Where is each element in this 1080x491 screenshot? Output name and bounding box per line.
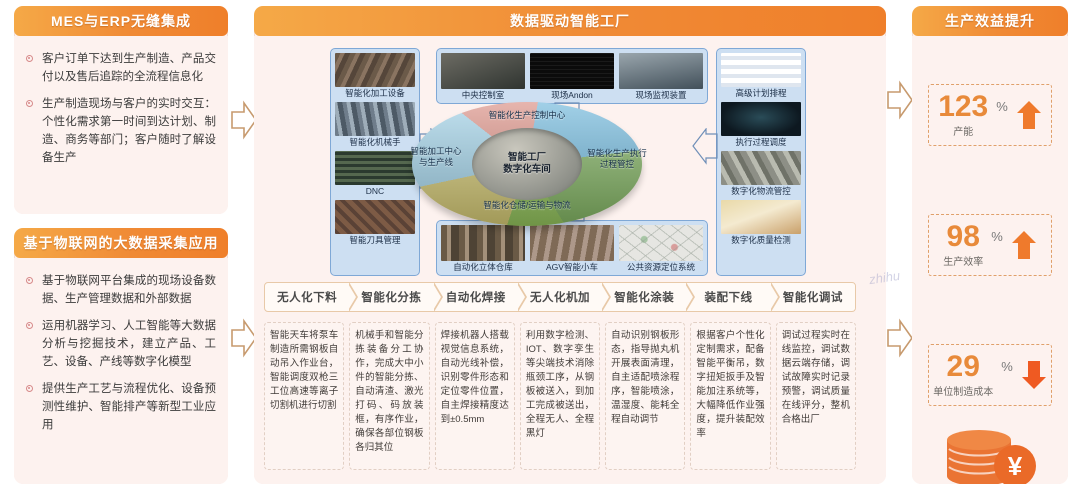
panel-iot-bigdata: 基于物联网的大数据采集应用 基于物联网平台集成的现场设备数据、生产管理数据和外部… <box>14 228 228 484</box>
yen-symbol: ¥ <box>1008 451 1023 481</box>
flow-step[interactable]: 自动化焊接 <box>434 283 518 311</box>
photo-card: 智能化机械手 <box>335 102 415 149</box>
description-card: 机械手和智能分拣装备分工协作，完成大中小件的智能分拣、自动清渣、激光打码、码放装… <box>349 322 429 470</box>
photo-card: 现场监视装置 <box>619 53 703 99</box>
photo-image <box>335 53 415 87</box>
bullet-text: 生产制造现场与客户的实时交互：个性化需求第一时间到达计划、制造、商务等部门；客户… <box>42 98 216 164</box>
photo-caption: 现场Andon <box>530 89 614 102</box>
photo-caption: AGV智能小车 <box>530 261 614 274</box>
wheel-center-line2: 数字化车间 <box>503 164 551 176</box>
panel-smart-factory: 数据驱动智能工厂 智能化加工设备 智能化机械手 DNC <box>254 6 886 484</box>
list-item: 基于物联网平台集成的现场设备数据、生产管理数据和外部数据 <box>26 272 216 308</box>
wheel-label-machining: 智能加工中心与生产线 <box>408 146 464 167</box>
panel-efficiency-gain-title: 生产效益提升 <box>912 6 1068 36</box>
photo-card: 中央控制室 <box>441 53 525 99</box>
description-card: 利用数字检测、IOT、数字孪生等尖端技术消除瓶颈工序，从钢板被送入，到加工完成被… <box>520 322 600 470</box>
photo-image <box>721 53 801 87</box>
photo-card: DNC <box>335 151 415 198</box>
list-item: 客户订单下达到生产制造、产品交付以及售后追踪的全流程信息化 <box>26 50 216 86</box>
connector-arrow-right-icon <box>688 128 718 190</box>
photo-card: 智能刀具管理 <box>335 200 415 247</box>
photo-card: 自动化立体仓库 <box>441 225 525 271</box>
photo-image <box>721 102 801 136</box>
bullet-text: 提供生产工艺与流程优化、设备预测性维护、智能排产等新型工业应用 <box>42 383 216 431</box>
photo-image <box>441 53 525 89</box>
photo-column-equipment: 智能化加工设备 智能化机械手 DNC 智能刀具管理 <box>330 48 420 276</box>
description-card: 焊接机器人搭载视觉信息系统，自动光线补偿，识别零件形态和定位零件位置，自主焊接精… <box>435 322 515 470</box>
kpi-capacity-unit: % <box>996 99 1008 114</box>
panel-smart-factory-title: 数据驱动智能工厂 <box>254 6 886 36</box>
arrow-up-icon <box>1016 100 1042 130</box>
arrow-center-to-right-top-icon <box>886 80 914 120</box>
panel-iot-bigdata-body: 基于物联网平台集成的现场设备数据、生产管理数据和外部数据 运用机器学习、人工智能… <box>14 258 228 484</box>
photo-caption: 自动化立体仓库 <box>441 261 525 274</box>
panel-mes-erp: MES与ERP无缝集成 客户订单下达到生产制造、产品交付以及售后追踪的全流程信息… <box>14 6 228 214</box>
photo-image <box>619 53 703 89</box>
list-item: 生产制造现场与客户的实时交互：个性化需求第一时间到达计划、制造、商务等部门；客户… <box>26 95 216 167</box>
photo-image <box>335 200 415 234</box>
photo-image <box>530 225 614 261</box>
photo-card: 现场Andon <box>530 53 614 99</box>
description-card: 自动识别钢板形态，指导抛丸机开展表面清理，自主适配喷涂程序，智能喷涂，温湿度、能… <box>605 322 685 470</box>
kpi-efficiency-value: 98 <box>947 222 980 252</box>
list-item: 提供生产工艺与流程优化、设备预测性维护、智能排产等新型工业应用 <box>26 380 216 434</box>
kpi-unit-cost-label: 单位制造成本 <box>933 383 993 398</box>
panel-efficiency-gain: 生产效益提升 123 产能 % 98 生产效率 % <box>912 6 1068 484</box>
flow-step[interactable]: 智能化分拣 <box>349 283 433 311</box>
kpi-efficiency-label: 生产效率 <box>943 253 983 268</box>
arrow-up-icon <box>1011 230 1037 260</box>
coin-stack-icon: ¥ <box>937 418 1043 484</box>
panel-mes-erp-title: MES与ERP无缝集成 <box>14 6 228 36</box>
photo-image <box>335 151 415 185</box>
photo-image <box>335 102 415 136</box>
photo-card: AGV智能小车 <box>530 225 614 271</box>
kpi-unit-cost-unit: % <box>1001 359 1013 374</box>
flow-step[interactable]: 智能化涂装 <box>602 283 686 311</box>
process-description-row: 智能天车将泵车制造所需钢板自动吊入作业台，智能调度双枪三工位高速等离子切割机进行… <box>264 322 856 470</box>
photo-image <box>530 53 614 89</box>
flow-step[interactable]: 智能化调试 <box>771 283 855 311</box>
flow-step[interactable]: 无人化下料 <box>265 283 349 311</box>
kpi-efficiency-value-group: 98 生产效率 <box>943 222 983 268</box>
kpi-unit-cost-value: 29 <box>947 352 980 382</box>
photo-caption: 中央控制室 <box>441 89 525 102</box>
wheel-label-control-center: 智能化生产控制中心 <box>489 110 566 121</box>
photo-column-planning: 高级计划排程 执行过程调度 数字化物流管控 数字化质量检测 <box>716 48 806 276</box>
infographic-root: MES与ERP无缝集成 客户订单下达到生产制造、产品交付以及售后追踪的全流程信息… <box>0 0 1080 491</box>
photo-caption: DNC <box>335 185 415 198</box>
photo-caption: 智能化机械手 <box>335 136 415 149</box>
description-card: 智能天车将泵车制造所需钢板自动吊入作业台，智能调度双枪三工位高速等离子切割机进行… <box>264 322 344 470</box>
iot-bullet-list: 基于物联网平台集成的现场设备数据、生产管理数据和外部数据 运用机器学习、人工智能… <box>26 272 216 434</box>
process-flow-bar: 无人化下料 智能化分拣 自动化焊接 无人化机加 智能化涂装 装配下线 智能化调试 <box>264 282 856 312</box>
photo-caption: 数字化物流管控 <box>721 185 801 198</box>
arrow-down-icon <box>1021 360 1047 390</box>
bullet-text: 运用机器学习、人工智能等大数据分析与挖掘技术，建立产品、工艺、设备、产线等数字化… <box>42 320 216 368</box>
kpi-capacity-label: 产能 <box>953 123 973 138</box>
bullet-text: 基于物联网平台集成的现场设备数据、生产管理数据和外部数据 <box>42 275 216 305</box>
photo-card: 数字化物流管控 <box>721 151 801 198</box>
photo-card: 高级计划排程 <box>721 53 801 100</box>
smart-factory-wheel: 智能化生产控制中心 智能化生产执行过程管控 智能化仓储/运输与物流 智能加工中心… <box>412 102 642 226</box>
photo-card: 智能化加工设备 <box>335 53 415 100</box>
arrow-center-to-right-bottom-icon <box>886 318 914 358</box>
wheel-center-label: 智能工厂 数字化车间 <box>503 152 551 176</box>
panel-efficiency-gain-body: 123 产能 % 98 生产效率 % 2 <box>912 36 1068 484</box>
photo-caption: 现场监视装置 <box>619 89 703 102</box>
photo-image <box>721 200 801 234</box>
photo-caption: 数字化质量检测 <box>721 234 801 247</box>
bullet-text: 客户订单下达到生产制造、产品交付以及售后追踪的全流程信息化 <box>42 53 216 83</box>
photo-caption: 公共资源定位系统 <box>619 261 703 274</box>
photo-card: 公共资源定位系统 <box>619 225 703 271</box>
photo-caption: 智能刀具管理 <box>335 234 415 247</box>
factory-diagram: 智能化加工设备 智能化机械手 DNC 智能刀具管理 <box>264 44 876 282</box>
photo-row-control: 中央控制室 现场Andon 现场监视装置 <box>436 48 708 104</box>
photo-image <box>721 151 801 185</box>
bullet-dot-icon <box>26 385 33 392</box>
flow-step[interactable]: 装配下线 <box>686 283 770 311</box>
photo-caption: 高级计划排程 <box>721 87 801 100</box>
photo-caption: 执行过程调度 <box>721 136 801 149</box>
panel-smart-factory-body: 智能化加工设备 智能化机械手 DNC 智能刀具管理 <box>254 36 886 484</box>
bullet-dot-icon <box>26 100 33 107</box>
description-card: 调试过程实时在线监控，调试数据云端存储，调试故障实时记录预警，调试质量在线评分，… <box>776 322 856 470</box>
wheel-center-line1: 智能工厂 <box>503 152 551 164</box>
bullet-dot-icon <box>26 277 33 284</box>
photo-row-logistics: 自动化立体仓库 AGV智能小车 公共资源定位系统 <box>436 220 708 276</box>
bullet-dot-icon <box>26 322 33 329</box>
flow-step[interactable]: 无人化机加 <box>518 283 602 311</box>
list-item: 运用机器学习、人工智能等大数据分析与挖掘技术，建立产品、工艺、设备、产线等数字化… <box>26 317 216 371</box>
panel-iot-bigdata-title: 基于物联网的大数据采集应用 <box>14 228 228 258</box>
wheel-label-execution: 智能化生产执行过程管控 <box>586 148 648 169</box>
kpi-capacity-value: 123 <box>938 92 988 122</box>
photo-image <box>441 225 525 261</box>
mes-erp-bullet-list: 客户订单下达到生产制造、产品交付以及售后追踪的全流程信息化 生产制造现场与客户的… <box>26 50 216 167</box>
wheel-label-warehouse: 智能化仓储/运输与物流 <box>483 200 570 211</box>
bullet-dot-icon <box>26 55 33 62</box>
photo-caption: 智能化加工设备 <box>335 87 415 100</box>
kpi-efficiency-unit: % <box>991 229 1003 244</box>
description-card: 根据客户个性化定制需求，配备智能平衡吊，数字扭矩扳手及智能加注系统等，大幅降低作… <box>690 322 770 470</box>
coin-stack-illustration: ¥ <box>912 418 1068 484</box>
panel-mes-erp-body: 客户订单下达到生产制造、产品交付以及售后追踪的全流程信息化 生产制造现场与客户的… <box>14 36 228 214</box>
kpi-capacity: 123 产能 % <box>928 84 1052 146</box>
kpi-efficiency: 98 生产效率 % <box>928 214 1052 276</box>
photo-card: 数字化质量检测 <box>721 200 801 247</box>
photo-card: 执行过程调度 <box>721 102 801 149</box>
kpi-unit-cost-value-group: 29 单位制造成本 <box>933 352 993 398</box>
kpi-capacity-value-group: 123 产能 <box>938 92 988 138</box>
kpi-unit-cost: 29 单位制造成本 % <box>928 344 1052 406</box>
photo-image <box>619 225 703 261</box>
